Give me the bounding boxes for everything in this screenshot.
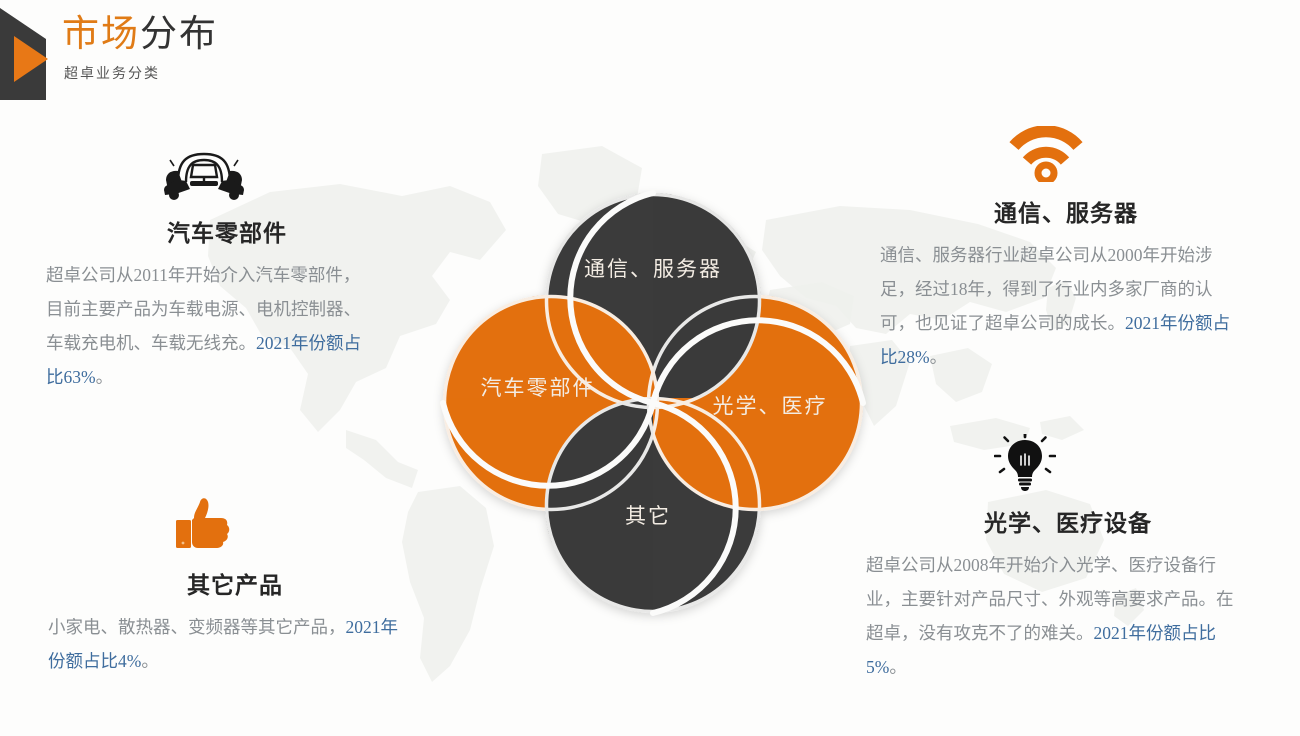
venn-label-optical: 光学、医疗	[713, 394, 828, 418]
page-subtitle: 超卓业务分类	[64, 63, 218, 83]
block-title-auto-parts: 汽车零部件	[88, 214, 366, 248]
block-title-optical-medical: 光学、医疗设备	[888, 504, 1248, 538]
body-text-plain: 小家电、散热器、变频器等其它产品，	[48, 617, 346, 637]
block-title-other-products: 其它产品	[70, 566, 400, 600]
venn-label-auto: 汽车零部件	[481, 376, 596, 400]
venn-label-other: 其它	[625, 504, 671, 528]
block-body-auto-parts: 超卓公司从2011年开始介入汽车零部件，目前主要产品为车载电源、电机控制器、车载…	[46, 258, 366, 395]
block-body-optical-medical: 超卓公司从2008年开始介入光学、医疗设备行业，主要针对产品尺寸、外观等高要求产…	[866, 548, 1248, 685]
body-text-tail: 。	[141, 651, 159, 671]
body-text-tail: 。	[96, 367, 114, 387]
info-block-other-products: 其它产品 小家电、散热器、变频器等其它产品，2021年份额占比4%。	[48, 492, 400, 678]
double-arrow-logo-icon	[0, 8, 66, 100]
slide-root: 市场分布 超卓业务分类	[0, 0, 1300, 736]
block-body-other-products: 小家电、散热器、变频器等其它产品，2021年份额占比4%。	[48, 610, 400, 678]
wifi-icon	[880, 120, 1242, 182]
slide-header: 市场分布 超卓业务分类	[0, 0, 1300, 108]
venn-label-comm: 通信、服务器	[584, 257, 722, 281]
info-block-optical-medical: 光学、医疗设备 超卓公司从2008年开始介入光学、医疗设备行业，主要针对产品尺寸…	[866, 430, 1248, 685]
title-group: 市场分布 超卓业务分类	[62, 14, 218, 83]
info-block-communication: 通信、服务器 通信、服务器行业超卓公司从2000年开始涉足，经过18年，得到了行…	[880, 120, 1242, 375]
page-title-rest: 分布	[140, 14, 218, 55]
info-block-auto-parts: 汽车零部件 超卓公司从2011年开始介入汽车零部件，目前主要产品为车载电源、电机…	[46, 140, 366, 395]
venn-diagram: 通信、服务器 光学、医疗 其它 汽车零部件	[418, 168, 888, 628]
page-title: 市场分布	[62, 14, 218, 57]
block-title-communication: 通信、服务器	[890, 194, 1242, 228]
body-text-tail: 。	[930, 347, 948, 367]
page-title-highlight: 市场	[62, 14, 140, 55]
lightbulb-icon	[866, 430, 1248, 492]
block-body-communication: 通信、服务器行业超卓公司从2000年开始涉足，经过18年，得到了行业内多家厂商的…	[880, 238, 1242, 375]
thumbs-up-icon	[48, 492, 400, 554]
body-text-tail: 。	[889, 657, 907, 677]
car-icon	[46, 140, 366, 202]
